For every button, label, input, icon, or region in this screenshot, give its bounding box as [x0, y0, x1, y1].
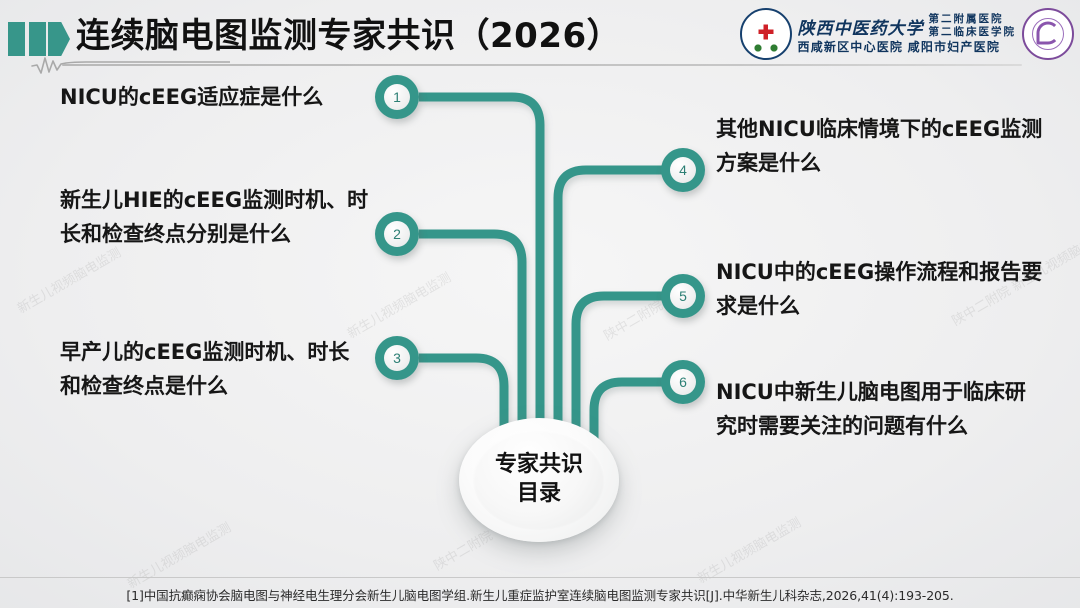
node-badge-1[interactable]: 1	[375, 75, 419, 119]
node-badge-2[interactable]: 2	[375, 212, 419, 256]
question-text-3: 早产儿的cEEG监测时机、时长和检查终点是什么	[60, 335, 370, 403]
logo-dept-line-1: 第二附属医院	[929, 13, 1017, 26]
watermark: 新生儿视频脑电监测	[123, 517, 234, 592]
slide-header: 连续脑电图监测专家共识（2026） 陕西中医药大学 第二附属医院 第二临床医学院…	[0, 0, 1080, 66]
node-number-4: 4	[670, 157, 696, 183]
node-number-2: 2	[384, 221, 410, 247]
footer-divider	[0, 577, 1080, 578]
institution-logos: 陕西中医药大学 第二附属医院 第二临床医学院 西咸新区中心医院 咸阳市妇产医院	[740, 6, 1075, 62]
watermark: 陕中二附院	[600, 295, 666, 344]
question-text-5: NICU中的cEEG操作流程和报告要求是什么	[716, 255, 1046, 323]
logo-hospital-names: 西咸新区中心医院 咸阳市妇产医院	[798, 41, 1017, 54]
question-text-4: 其他NICU临床情境下的cEEG监测方案是什么	[716, 112, 1046, 180]
connector-node-4	[558, 170, 663, 452]
citation-footnote: [1]中国抗癫痫协会脑电图与神经电生理分会新生儿脑电图学组.新生儿重症监护室连续…	[0, 585, 1080, 604]
node-badge-4[interactable]: 4	[661, 148, 705, 192]
watermark: 新生儿视频脑电监测	[13, 242, 124, 317]
node-badge-3[interactable]: 3	[375, 336, 419, 380]
logo-university-name: 陕西中医药大学	[798, 20, 924, 39]
node-number-3: 3	[384, 345, 410, 371]
logo-text-block: 陕西中医药大学 第二附属医院 第二临床医学院 西咸新区中心医院 咸阳市妇产医院	[798, 13, 1017, 55]
node-number-6: 6	[670, 369, 696, 395]
connector-node-5	[576, 296, 663, 452]
center-hub-label: 专家共识 目录	[495, 451, 583, 508]
arrow-bars-decoration-icon	[8, 22, 70, 56]
node-badge-5[interactable]: 5	[661, 274, 705, 318]
node-badge-6[interactable]: 6	[661, 360, 705, 404]
node-number-1: 1	[384, 84, 410, 110]
watermark: 新生儿视频脑电监测	[693, 512, 804, 587]
question-text-6: NICU中新生儿脑电图用于临床研究时需要关注的问题有什么	[716, 375, 1046, 443]
maternity-hospital-icon	[1022, 8, 1074, 60]
deco-bar-2	[29, 22, 46, 56]
node-number-5: 5	[670, 283, 696, 309]
center-hub[interactable]: 专家共识 目录	[459, 418, 619, 542]
watermark: 陕中二附院	[430, 525, 496, 574]
question-text-2: 新生儿HIE的cEEG监测时机、时长和检查终点分别是什么	[60, 183, 370, 251]
slide-canvas: 连续脑电图监测专家共识（2026） 陕西中医药大学 第二附属医院 第二临床医学院…	[0, 0, 1080, 608]
logo-dept-line-2: 第二临床医学院	[929, 26, 1017, 39]
deco-arrow-shape	[48, 22, 70, 56]
watermark: 新生儿视频脑电监测	[343, 267, 454, 342]
deco-bar-1	[8, 22, 25, 56]
connector-node-1	[419, 97, 540, 452]
question-text-1: NICU的cEEG适应症是什么	[60, 80, 370, 114]
connector-node-2	[419, 234, 522, 452]
header-divider	[62, 64, 1022, 66]
university-crest-icon	[740, 8, 792, 60]
center-hub-inner: 专家共识 目录	[473, 430, 605, 530]
page-title: 连续脑电图监测专家共识（2026）	[76, 8, 621, 57]
connector-node-6	[594, 382, 663, 452]
